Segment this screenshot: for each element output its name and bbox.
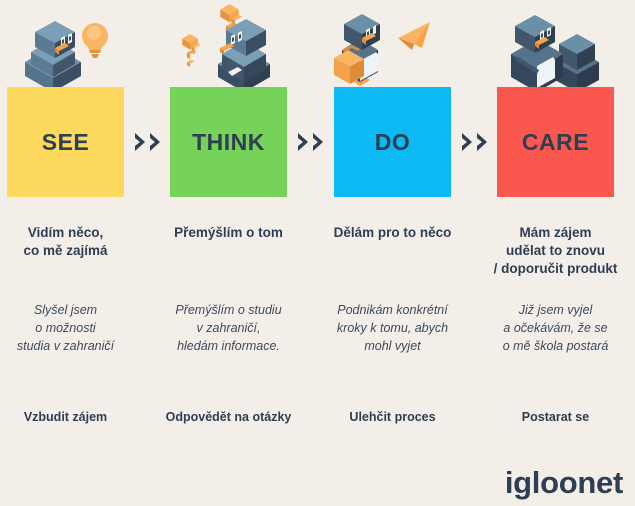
chevron-right-icon <box>134 133 146 151</box>
quote-line: Podnikám konkrétní <box>326 301 459 319</box>
stage-goal-see: Vzbudit zájem <box>0 410 132 424</box>
illustration-robot-with-briefcase-and-paper-plane <box>334 0 451 92</box>
chevron-right-icon <box>149 133 161 151</box>
paper-plane-icon <box>398 22 430 50</box>
quote-line: v zahraničí, <box>162 319 295 337</box>
headline-line: Přemýšlím o tom <box>164 224 293 242</box>
chevron-right-icon <box>461 133 473 151</box>
quote-line: o možnosti <box>0 319 132 337</box>
headline-line: udělat to znovu <box>489 242 622 260</box>
stage-quote-see: Slyšel jsem o možnosti studia v zahranič… <box>0 301 132 355</box>
igloonet-logo: igloonet <box>505 467 623 498</box>
stage-block-see[interactable]: SEE <box>7 87 124 197</box>
separator-double-chevron-think-do <box>287 131 333 153</box>
infographic-canvas: SEE Vidím něco, co mě zajímá Slyšel jsem… <box>0 0 635 506</box>
stage-label-care: CARE <box>522 131 589 154</box>
stage-label-see: SEE <box>42 131 90 154</box>
stage-column-do: DO Dělám pro to něco Podnikám konkrétní … <box>334 0 451 460</box>
chevron-right-icon <box>297 133 309 151</box>
stage-column-see: SEE Vidím něco, co mě zajímá Slyšel jsem… <box>7 0 124 460</box>
illustration-two-robots <box>497 0 614 92</box>
stage-headline-care: Mám zájem udělat to znovu / doporučit pr… <box>489 224 622 279</box>
headline-line: / doporučit produkt <box>489 260 622 278</box>
stage-label-think: THINK <box>192 131 265 154</box>
quote-line: Slyšel jsem <box>0 301 132 319</box>
quote-line: a očekávám, že se <box>489 319 622 337</box>
separator-double-chevron-do-care <box>451 131 497 153</box>
stage-quote-do: Podnikám konkrétní kroky k tomu, abych m… <box>326 301 459 355</box>
illustration-robot-with-question-marks <box>170 0 287 92</box>
stage-goal-care: Postarat se <box>489 410 622 424</box>
stage-goal-think: Odpovědět na otázky <box>162 410 295 424</box>
headline-line: Vidím něco, <box>1 224 130 242</box>
stage-quote-care: Již jsem vyjel a očekávám, že se o mě šk… <box>489 301 622 355</box>
stage-headline-think: Přemýšlím o tom <box>164 224 293 242</box>
stage-headline-do: Dělám pro to něco <box>328 224 457 242</box>
stage-block-care[interactable]: CARE <box>497 87 614 197</box>
stage-column-care: CARE Mám zájem udělat to znovu / doporuč… <box>497 0 614 460</box>
chevron-right-icon <box>476 133 488 151</box>
headline-line: Dělám pro to něco <box>328 224 457 242</box>
quote-line: mohl vyjet <box>326 337 459 355</box>
stage-block-think[interactable]: THINK <box>170 87 287 197</box>
quote-line: o mě škola postará <box>489 337 622 355</box>
quote-line: hledám informace. <box>162 337 295 355</box>
quote-line: Přemýšlím o studiu <box>162 301 295 319</box>
quote-line: studia v zahraničí <box>0 337 132 355</box>
illustration-robot-with-lightbulb <box>7 0 124 92</box>
quote-line: Již jsem vyjel <box>489 301 622 319</box>
stage-quote-think: Přemýšlím o studiu v zahraničí, hledám i… <box>162 301 295 355</box>
stage-label-do: DO <box>375 131 411 154</box>
headline-line: co mě zajímá <box>1 242 130 260</box>
stage-block-do[interactable]: DO <box>334 87 451 197</box>
separator-double-chevron-see-think <box>124 131 170 153</box>
headline-line: Mám zájem <box>489 224 622 242</box>
quote-line: kroky k tomu, abych <box>326 319 459 337</box>
stage-column-think: THINK Přemýšlím o tom Přemýšlím o studiu… <box>170 0 287 460</box>
stage-goal-do: Ulehčit proces <box>326 410 459 424</box>
stage-headline-see: Vidím něco, co mě zajímá <box>1 224 130 260</box>
chevron-right-icon <box>312 133 324 151</box>
